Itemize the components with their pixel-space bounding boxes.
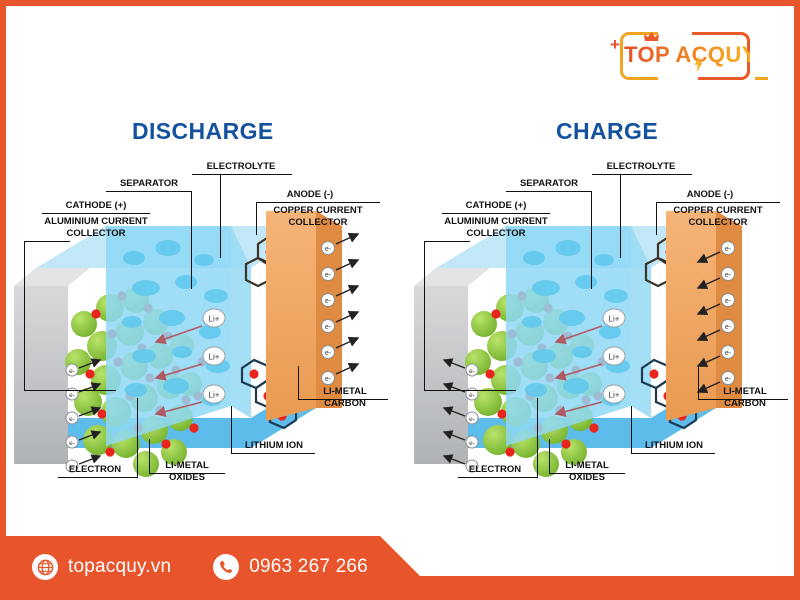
svg-text:e-: e- [325,324,332,331]
label-electrolyte-charge: ELECTROLYTE [586,161,696,173]
svg-text:e-: e- [725,350,732,357]
label-li-metal-carbon-discharge: LI-METAL CARBON [302,386,388,409]
svg-text:e-: e- [69,416,75,423]
label-anode-sub-charge: COPPER CURRENT COLLECTOR [652,205,784,228]
diagram-discharge: Li+ Li+ Li+ [6,156,406,506]
diagram-title-discharge: DISCHARGE [132,118,274,145]
svg-text:e-: e- [69,392,75,399]
label-anode-charge: ANODE (-) [656,189,764,201]
lightning-bolt-icon [694,56,703,72]
label-li-metal-carbon-charge: LI-METAL CARBON [702,386,788,409]
label-lithium-ion-charge: LITHIUM ION [633,440,715,452]
label-cathode-sub-discharge: ALUMINIUM CURRENT COLLECTOR [24,216,168,239]
label-cathode-charge: CATHODE (+) [436,200,556,212]
svg-text:Li+: Li+ [209,315,220,324]
globe-icon [32,554,58,580]
label-separator-charge: SEPARATOR [502,178,596,190]
svg-text:e-: e- [69,440,75,447]
label-cathode-discharge: CATHODE (+) [36,200,156,212]
footer-contact-row: topacquy.vn 0963 267 266 [32,550,368,584]
phone-icon [213,554,239,580]
svg-text:e-: e- [469,368,475,375]
svg-text:e-: e- [325,246,332,253]
label-li-metal-oxides-charge: LI-METAL OXIDES [548,460,626,483]
logo-frame-gap-top [658,30,692,37]
logo-wordmark: TOP ACQUY [624,38,750,72]
label-electron-charge: ELECTRON [458,464,532,476]
poster-root: + TOP ACQUY DISCHARGE CHARGE [0,0,800,600]
diagram-title-charge: CHARGE [556,118,658,145]
svg-text:Li+: Li+ [609,315,620,324]
label-lithium-ion-discharge: LITHIUM ION [233,440,315,452]
label-electrolyte-discharge: ELECTROLYTE [186,161,296,173]
svg-text:e-: e- [325,272,332,279]
svg-text:e-: e- [469,440,475,447]
svg-text:Li+: Li+ [209,391,220,400]
minus-icon [755,77,768,80]
brand-logo[interactable]: + TOP ACQUY [598,20,776,94]
logo-frame-gap-bottom [658,75,698,83]
label-electron-discharge: ELECTRON [58,464,132,476]
svg-text:e-: e- [725,272,732,279]
label-separator-discharge: SEPARATOR [102,178,196,190]
footer-website[interactable]: topacquy.vn [68,556,171,578]
svg-text:e-: e- [725,376,732,383]
svg-text:e-: e- [725,324,732,331]
svg-text:Li+: Li+ [609,391,620,400]
svg-text:e-: e- [469,392,475,399]
plus-icon: + [610,36,620,53]
svg-text:Li+: Li+ [209,353,220,362]
svg-text:e-: e- [325,298,332,305]
svg-text:e-: e- [725,246,732,253]
label-anode-sub-discharge: COPPER CURRENT COLLECTOR [252,205,384,228]
svg-text:e-: e- [725,298,732,305]
label-li-metal-oxides-discharge: LI-METAL OXIDES [148,460,226,483]
svg-text:e-: e- [469,416,475,423]
label-anode-discharge: ANODE (-) [256,189,364,201]
diagram-charge: Li+ Li+ Li+ [406,156,800,506]
label-cathode-sub-charge: ALUMINIUM CURRENT COLLECTOR [424,216,568,239]
svg-text:Li+: Li+ [609,353,620,362]
svg-text:e-: e- [325,376,332,383]
svg-text:e-: e- [69,368,75,375]
svg-text:e-: e- [325,350,332,357]
footer-phone[interactable]: 0963 267 266 [249,556,368,578]
